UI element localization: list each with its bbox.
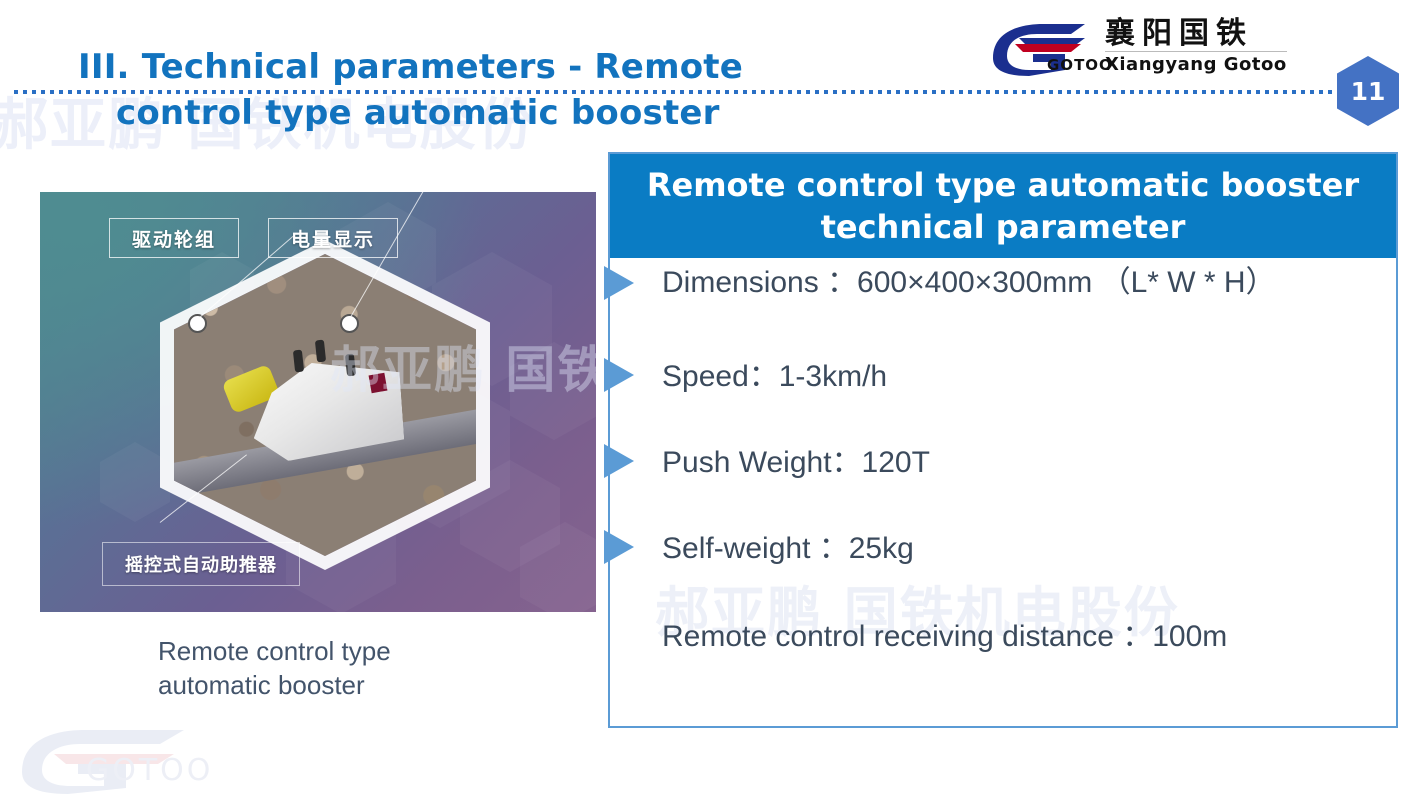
bullet-arrow-icon [604, 358, 634, 392]
technical-parameter-panel: Remote control type automatic booster te… [608, 152, 1398, 728]
callout-drive-wheel: 驱动轮组 [109, 218, 239, 258]
gotoo-wordmark: GOTOO [1047, 56, 1113, 74]
parameter-dimensions: Dimensions ：600×400×300mm （L* W * H） [662, 264, 1376, 302]
parameter-speed: Speed：1-3km/h [662, 358, 1376, 396]
footer-logo-watermark: GOTOO [8, 718, 218, 796]
slide-root: 郝亚鹏 国铁机电股份 III. Technical parameters - R… [0, 0, 1423, 802]
page-title: III. Technical parameters - Remote contr… [78, 44, 838, 136]
product-photo: 驱动轮组 电量显示 摇控式自动助推器 郝亚鹏 国铁机电股份 [40, 192, 596, 612]
callout-product-name: 摇控式自动助推器 [102, 542, 300, 586]
page-title-line2: control type automatic booster [78, 90, 838, 136]
panel-body: Dimensions ：600×400×300mm （L* W * H） Spe… [610, 258, 1396, 726]
gotoo-logo-icon: GOTOO [985, 18, 1095, 76]
parameter-receiving-distance: Remote control receiving distance ：100m [662, 618, 1376, 656]
company-name-cn: 襄阳国铁 [1105, 18, 1287, 52]
bullet-arrow-icon [604, 530, 634, 564]
callout-battery-display: 电量显示 [268, 218, 398, 258]
bullet-arrow-icon [604, 444, 634, 478]
bullet-arrow-icon [604, 266, 634, 300]
parameter-push-weight: Push Weight：120T [662, 444, 1376, 482]
company-name-en: Xiangyang Gotoo [1105, 54, 1287, 76]
company-name-block: 襄阳国铁 Xiangyang Gotoo [1105, 18, 1287, 76]
parameter-self-weight: Self-weight ：25kg [662, 530, 1376, 568]
footer-logo-text: GOTOO [86, 753, 213, 788]
page-title-line1: III. Technical parameters - Remote [78, 47, 743, 87]
panel-header: Remote control type automatic booster te… [610, 154, 1396, 258]
photo-caption: Remote control type automatic booster [158, 634, 488, 702]
company-logo: GOTOO 襄阳国铁 Xiangyang Gotoo [985, 14, 1305, 80]
page-number-badge: 11 [1337, 56, 1399, 126]
page-number-label: 11 [1351, 77, 1386, 106]
battery-display-panel [369, 373, 388, 394]
